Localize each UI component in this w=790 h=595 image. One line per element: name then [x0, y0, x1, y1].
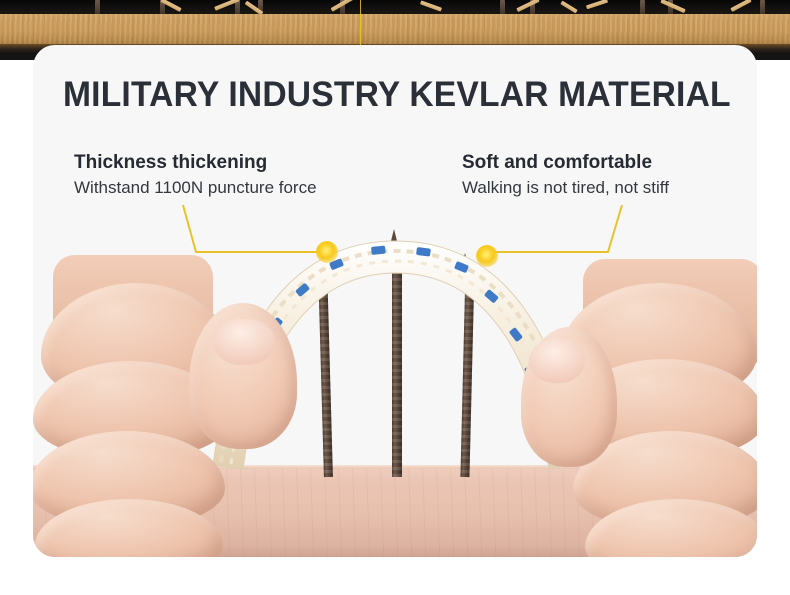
- content-card: MILITARY INDUSTRY KEVLAR MATERIAL Thickn…: [33, 45, 757, 557]
- callout-left-subtext: Withstand 1100N puncture force: [74, 176, 317, 200]
- marker-core: [481, 250, 493, 262]
- page-title: MILITARY INDUSTRY KEVLAR MATERIAL: [63, 73, 702, 117]
- callout-left-heading: Thickness thickening: [74, 151, 317, 175]
- leader-line-right: [487, 205, 622, 252]
- product-banner: MILITARY INDUSTRY KEVLAR MATERIAL Thickn…: [0, 0, 790, 595]
- marker-core: [321, 246, 333, 258]
- callout-left: Thickness thickening Withstand 1100N pun…: [74, 151, 317, 200]
- guide-line: [360, 0, 361, 46]
- callout-marker-left: [316, 241, 338, 263]
- leader-line-left: [183, 205, 327, 252]
- callout-right-subtext: Walking is not tired, not stiff: [462, 176, 669, 200]
- wooden-plank: [0, 14, 790, 46]
- callout-marker-right: [476, 245, 498, 267]
- callout-leader-lines: [33, 45, 757, 557]
- callout-right-heading: Soft and comfortable: [462, 151, 669, 175]
- callout-right: Soft and comfortable Walking is not tire…: [462, 151, 669, 200]
